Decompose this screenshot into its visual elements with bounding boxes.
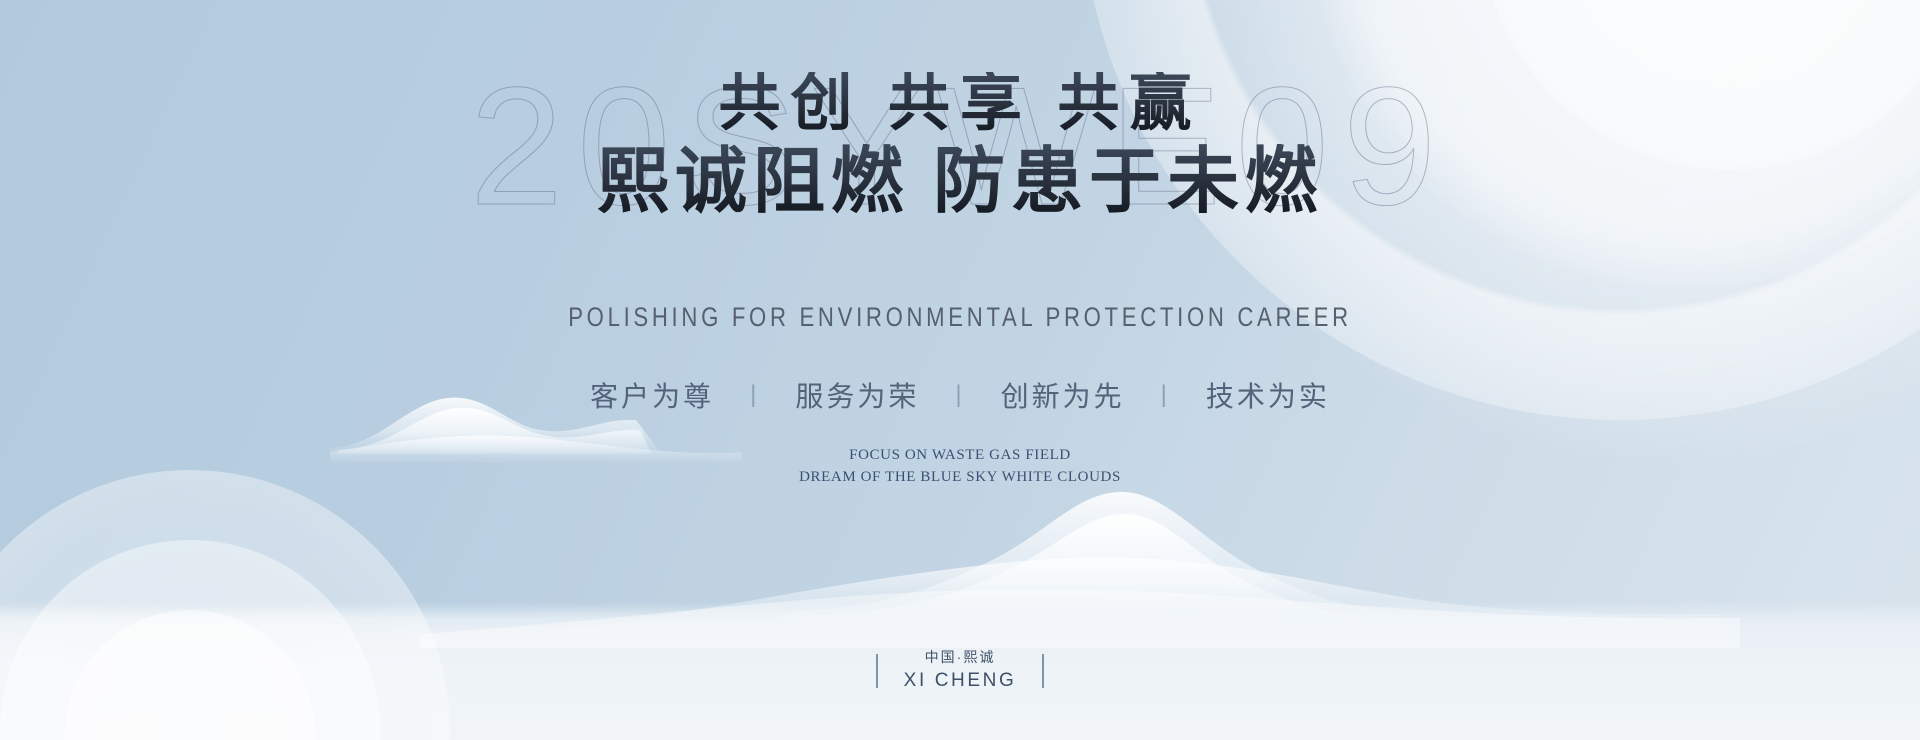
logo-divider-left [876, 654, 878, 688]
value-separator-1: | [748, 381, 761, 409]
value-item-4: 技术为实 [1172, 375, 1364, 415]
logo-chinese: 中国·熙诚 [904, 647, 1017, 668]
english-tagline: POLISHING FOR ENVIRONMENTAL PROTECTION C… [173, 302, 1747, 333]
value-separator-3: | [1159, 381, 1172, 409]
sub-english-line-1: FOCUS ON WASTE GAS FIELD [0, 445, 1920, 467]
logo-divider-right [1042, 654, 1044, 688]
headline-line-2: 熙诚阻燃 防患于未燃 [0, 144, 1920, 220]
value-separator-2: | [953, 381, 966, 409]
logo-english: XI CHENG [904, 668, 1017, 694]
values-row: 客户为尊 | 服务为荣 | 创新为先 | 技术为实 [0, 375, 1920, 415]
value-item-2: 服务为荣 [761, 375, 953, 415]
headline-block: 共创 共享 共赢 熙诚阻燃 防患于未燃 [0, 72, 1920, 220]
sub-english-block: FOCUS ON WASTE GAS FIELD DREAM OF THE BL… [0, 445, 1920, 489]
promo-banner: 20SYWE09 [0, 0, 1920, 740]
logo-lockup: 中国·熙诚 XI CHENG [0, 647, 1920, 694]
headline-line-1: 共创 共享 共赢 [0, 72, 1920, 138]
value-item-1: 客户为尊 [556, 375, 748, 415]
sub-english-line-2: DREAM OF THE BLUE SKY WHITE CLOUDS [0, 467, 1920, 489]
value-item-3: 创新为先 [967, 375, 1159, 415]
logo-text: 中国·熙诚 XI CHENG [904, 647, 1017, 694]
